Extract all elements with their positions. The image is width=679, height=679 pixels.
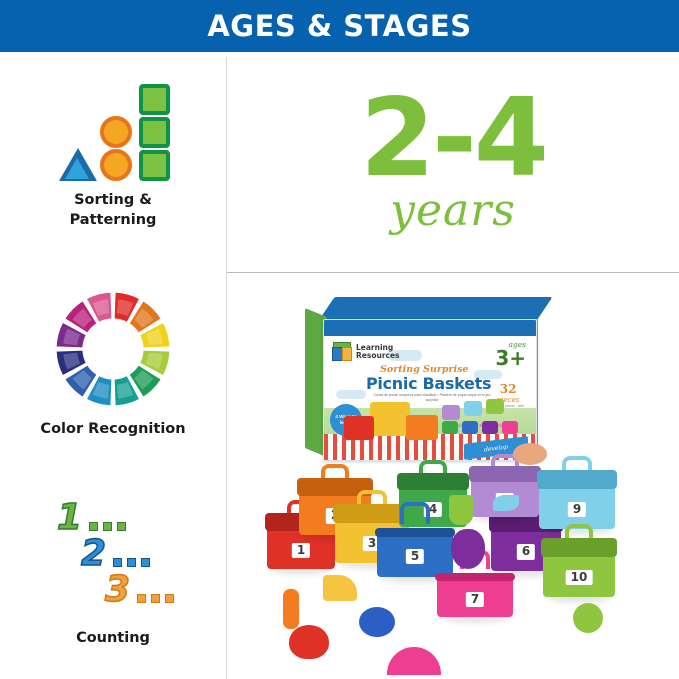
food-item-blueberries [359, 607, 395, 637]
numeral-2: 2 [81, 533, 106, 574]
ages-value: 3+ [495, 349, 526, 367]
lr-brand-text: Learning Resources [356, 344, 400, 361]
feature-color-recognition: Color Recognition [0, 262, 226, 467]
dots-after-2 [113, 558, 150, 567]
basket-handle [400, 502, 430, 524]
food-item-donut [513, 443, 547, 465]
basket-lid [541, 538, 617, 557]
numeral-3: 3 [105, 569, 130, 610]
box-main-title: Picnic Baskets [366, 374, 491, 393]
box-art-basket-3 [370, 402, 410, 436]
age-range-panel: 2-4 years [227, 53, 679, 272]
shapes-sorting-icon [53, 84, 173, 179]
basket-number-label: 6 [517, 544, 535, 559]
food-item-popsicle [283, 589, 299, 629]
basket-lid [397, 473, 469, 490]
feature-label-counting: Counting [76, 629, 150, 649]
age-range-unit: years [390, 185, 516, 236]
feature-label-color: Color Recognition [40, 420, 185, 440]
basket-number-label: 10 [566, 570, 593, 585]
box-art-basket-1 [344, 416, 374, 440]
box-art-basket-5 [462, 421, 478, 434]
feature-counting: 1 2 3 Counting [0, 467, 226, 679]
product-box: Learning Resources Sorting Surprise Picn… [305, 297, 535, 457]
feature-label-line1: Sorting & [70, 191, 157, 211]
box-art-basket-9 [464, 401, 482, 416]
learning-resources-logo: Learning Resources [332, 342, 400, 362]
box-art-basket-2 [406, 415, 438, 440]
brand-line2: Resources [356, 352, 400, 360]
basket-lid [537, 470, 618, 489]
feature-sorting-patterning: Sorting & Patterning [0, 52, 226, 262]
basket-number-label: 7 [466, 592, 484, 607]
pieces-count: 32 [492, 382, 524, 396]
header-banner: AGES & STAGES [0, 0, 679, 52]
basket-number-label: 5 [406, 549, 424, 564]
features-sidebar: Sorting & Patterning Color Recognition 1 [0, 52, 226, 679]
page-title: AGES & STAGES [207, 9, 471, 43]
numbers-counting-icon: 1 2 3 [53, 497, 173, 617]
food-item-cheese-wedge [323, 575, 357, 601]
box-ages-badge: ages 3+ [495, 340, 526, 367]
box-front-panel: Learning Resources Sorting Surprise Picn… [323, 319, 537, 461]
feature-label-line1: Color Recognition [40, 420, 185, 440]
food-item-strawberry [289, 625, 329, 659]
ages-and-stages-infographic: AGES & STAGES Sorting & Patterning [0, 0, 679, 679]
food-item-apple [573, 603, 603, 633]
feature-label-line2: Patterning [70, 211, 157, 231]
food-item-cup [449, 495, 473, 525]
age-range-value: 2-4 [360, 89, 546, 188]
feature-label-sorting: Sorting & Patterning [70, 191, 157, 230]
basket-lid [469, 466, 541, 482]
basket-9: 9 [539, 457, 615, 529]
box-art-basket-6 [482, 421, 498, 434]
basket-open-rim [375, 528, 456, 537]
color-wheel-icon [54, 290, 172, 408]
box-art-basket-4 [442, 421, 458, 434]
box-art-basket-8 [442, 405, 460, 420]
basket-number-label: 1 [292, 543, 310, 558]
basket-open-rim [435, 573, 516, 581]
food-item-grapes [451, 529, 485, 569]
box-art-basket-7 [502, 421, 518, 434]
dots-after-1 [89, 522, 126, 531]
basket-number-label: 9 [568, 502, 586, 517]
box-art-basket-10 [486, 399, 504, 414]
picnic-baskets-product-photo: Learning Resources Sorting Surprise Picn… [227, 273, 679, 679]
box-header-strip [324, 320, 536, 336]
basket-10: 10 [543, 525, 615, 597]
food-item-watermelon [387, 647, 441, 675]
dots-after-3 [137, 594, 174, 603]
numeral-1: 1 [57, 497, 82, 538]
food-item-bird [493, 495, 519, 511]
feature-label-line1: Counting [76, 629, 150, 649]
lr-cube-icon [332, 342, 352, 362]
